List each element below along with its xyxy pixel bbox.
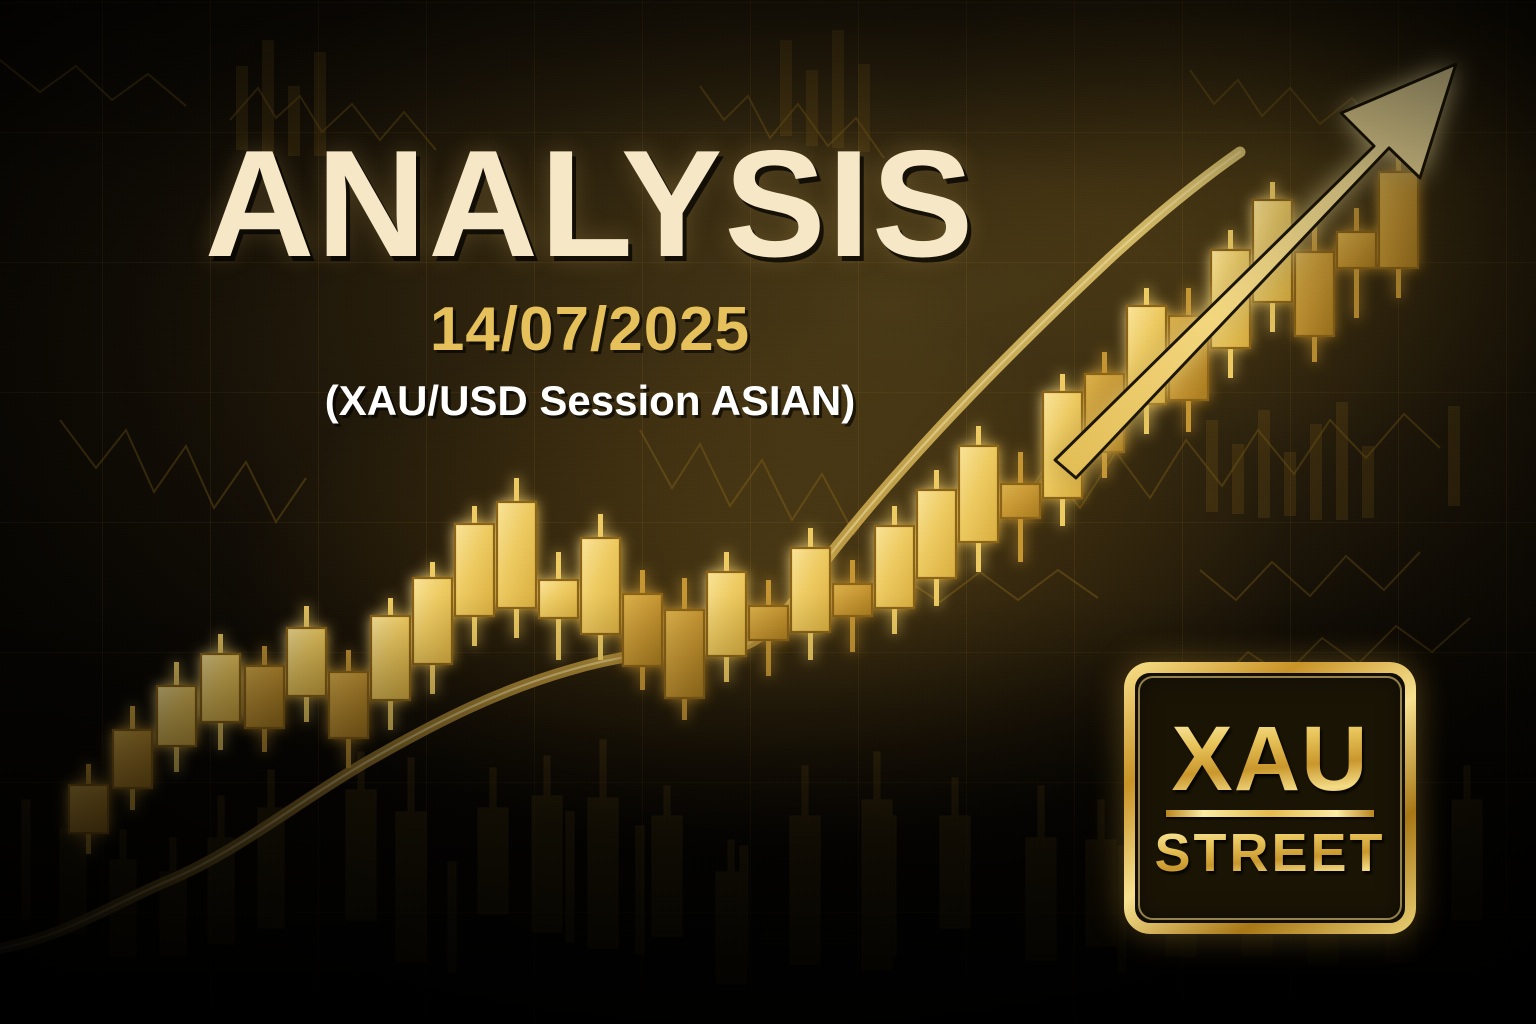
logo-xau-text: XAU xyxy=(1171,716,1368,803)
analysis-date: 14/07/2025 xyxy=(0,294,1180,365)
logo-content: XAU STREET xyxy=(1124,662,1416,934)
banner-canvas: ANALYSIS 14/07/2025 (XAU/USD Session ASI… xyxy=(0,0,1536,1024)
logo-divider-line xyxy=(1166,810,1374,817)
analysis-subtitle: (XAU/USD Session ASIAN) xyxy=(0,377,1180,425)
xau-street-logo[interactable]: XAU STREET xyxy=(1124,662,1416,934)
page-title: ANALYSIS xyxy=(0,128,1180,280)
title-block: ANALYSIS 14/07/2025 (XAU/USD Session ASI… xyxy=(0,128,1180,425)
logo-street-text: STREET xyxy=(1154,826,1385,880)
